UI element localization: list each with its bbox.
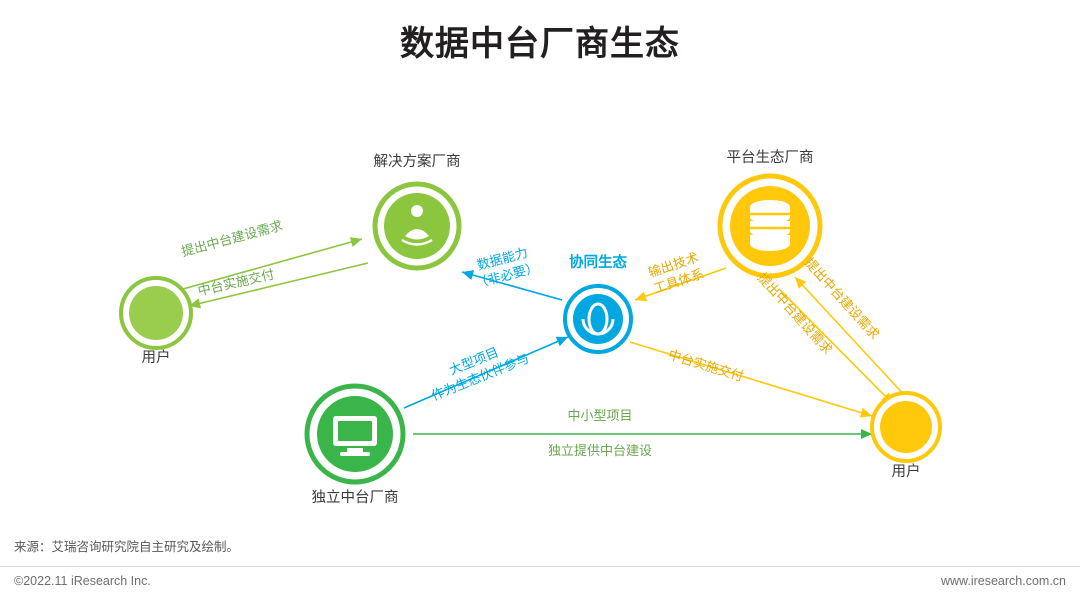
node-label-independent-vendor: 独立中台厂商 xyxy=(293,486,417,507)
node-user-left[interactable] xyxy=(121,278,191,348)
copyright-text: ©2022.11 iResearch Inc. xyxy=(14,574,151,588)
footer-divider xyxy=(0,566,1080,599)
node-user-right[interactable] xyxy=(872,393,940,461)
edge-delivery-right xyxy=(630,342,872,416)
node-solution-vendor[interactable] xyxy=(375,184,459,268)
edge-label-mid-small-project: 中小型项目 独立提供中台建设 xyxy=(548,407,652,459)
database-icon xyxy=(750,200,790,251)
source-note: 来源：艾瑞咨询研究院自主研究及绘制。 xyxy=(14,536,239,555)
node-label-solution-vendor: 解决方案厂商 xyxy=(355,150,479,171)
node-label-user-right: 用户 xyxy=(876,460,936,481)
node-label-user-left: 用户 xyxy=(126,346,186,367)
node-collaborative-ecology[interactable] xyxy=(565,286,631,352)
website-url[interactable]: www.iresearch.com.cn xyxy=(941,574,1066,588)
node-label-collaborative-ecology: 协同生态 xyxy=(548,251,648,272)
diagram-canvas: 数据中台厂商生态 xyxy=(0,0,1080,598)
node-label-platform-vendor: 平台生态厂商 xyxy=(708,146,832,167)
diagram-svg xyxy=(0,0,1080,598)
node-independent-vendor[interactable] xyxy=(307,386,403,482)
